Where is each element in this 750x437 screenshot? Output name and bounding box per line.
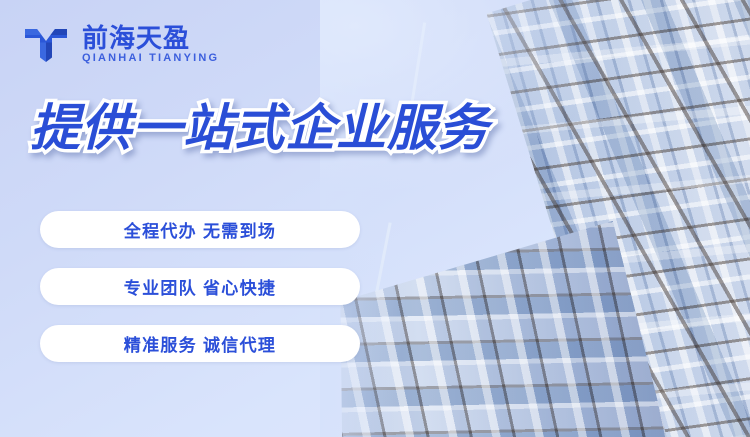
feature-pill-list: 全程代办 无需到场 专业团队 省心快捷 精准服务 诚信代理 <box>40 211 360 362</box>
feature-pill-3-label: 精准服务 诚信代理 <box>124 331 276 356</box>
page-title: 提供一站式企业服务 <box>30 100 489 156</box>
qianhai-tianying-logo-mark-icon <box>22 20 70 68</box>
photo-bloom-overlay <box>320 0 750 437</box>
feature-pill-2[interactable]: 专业团队 省心快捷 <box>40 268 360 305</box>
logo-name-cn: 前海天盈 <box>82 25 219 51</box>
logo-text-block: 前海天盈 QIANHAI TIANYING <box>82 25 219 64</box>
skyscraper-photo <box>320 0 750 437</box>
feature-pill-2-label: 专业团队 省心快捷 <box>124 274 276 299</box>
logo-name-en: QIANHAI TIANYING <box>82 53 219 64</box>
feature-pill-1[interactable]: 全程代办 无需到场 <box>40 211 360 248</box>
brand-logo[interactable]: 前海天盈 QIANHAI TIANYING <box>22 20 219 68</box>
feature-pill-1-label: 全程代办 无需到场 <box>124 217 276 242</box>
promo-banner: 前海天盈 QIANHAI TIANYING 提供一站式企业服务 全程代办 无需到… <box>0 0 750 437</box>
feature-pill-3[interactable]: 精准服务 诚信代理 <box>40 325 360 362</box>
